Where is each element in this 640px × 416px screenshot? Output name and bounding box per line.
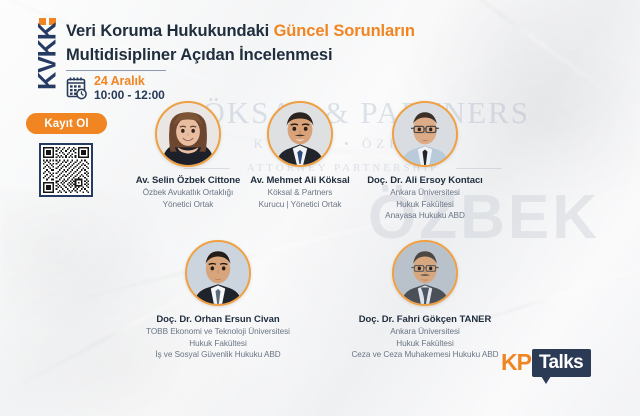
title-line-1: Veri Koruma Hukukundaki Güncel Sorunları…: [66, 19, 536, 43]
title-line-1-highlight: Güncel Sorunların: [274, 22, 415, 40]
speaker-name: Doç. Dr. Orhan Ersun Civan: [118, 313, 318, 326]
speaker-card-orhan-ersun-civan: Doç. Dr. Orhan Ersun Civan TOBB Ekonomi …: [118, 240, 318, 361]
kvkk-logo: KVKK: [33, 18, 61, 108]
speaker-card-mehmet-ali-koksal: Av. Mehmet Ali Köksal Köksal & Partners …: [236, 101, 364, 210]
page-title: Veri Koruma Hukukundaki Güncel Sorunları…: [66, 19, 536, 67]
speaker-affiliation-line: Ceza ve Ceza Muhakemesi Hukuku ABD: [330, 349, 520, 361]
calendar-clock-icon: [66, 76, 88, 100]
kp-talks-logo: KP Talks: [501, 349, 591, 377]
speaker-card-fahri-gokcen-taner: Doç. Dr. Fahri Gökçen TANER Ankara Ünive…: [330, 240, 520, 361]
avatar: [155, 101, 221, 167]
kp-talks-suffix: Talks: [539, 352, 583, 373]
speaker-affiliation-line: Hukuk Fakültesi: [350, 199, 500, 211]
speaker-name: Doç. Dr. Fahri Gökçen TANER: [330, 313, 520, 326]
event-datetime: 24 Aralık 10:00 - 12:00: [66, 70, 246, 101]
speaker-affiliation-line: Hukuk Fakültesi: [330, 338, 520, 350]
speaker-card-ali-ersoy-kontaci: Doç. Dr. Ali Ersoy Kontacı Ankara Üniver…: [350, 101, 500, 222]
kp-talks-prefix: KP: [501, 349, 531, 375]
event-poster: KÖKSAL & PARTNERS KÖKSAL • ÖZKAN ATTORNE…: [0, 0, 640, 416]
register-button[interactable]: Kayıt Ol: [26, 113, 107, 134]
speaker-affiliation-line: Ankara Üniversitesi: [350, 187, 500, 199]
speaker-affiliation-line: TOBB Ekonomi ve Teknoloji Üniversitesi: [118, 326, 318, 338]
title-line-1-plain: Veri Koruma Hukukundaki: [66, 22, 274, 40]
title-line-2: Multidisipliner Açıdan İncelenmesi: [66, 43, 536, 67]
speech-bubble-icon: Talks: [532, 349, 591, 377]
qr-code[interactable]: [39, 143, 93, 197]
divider: [66, 70, 166, 71]
speaker-name: Av. Mehmet Ali Köksal: [236, 174, 364, 187]
speaker-affiliation-line: Hukuk Fakültesi: [118, 338, 318, 350]
speaker-affiliation-line: Anayasa Hukuku ABD: [350, 210, 500, 222]
event-time: 10:00 - 12:00: [94, 89, 165, 101]
event-date: 24 Aralık: [94, 75, 165, 87]
avatar: [185, 240, 251, 306]
speaker-name: Doç. Dr. Ali Ersoy Kontacı: [350, 174, 500, 187]
speaker-affiliation-line: Ankara Üniversitesi: [330, 326, 520, 338]
avatar: [267, 101, 333, 167]
kvkk-logo-text: KVKK: [34, 18, 63, 96]
avatar: [392, 101, 458, 167]
speaker-affiliation-line: İş ve Sosyal Güvenlik Hukuku ABD: [118, 349, 318, 361]
avatar: [392, 240, 458, 306]
speaker-affiliation-line: Kurucu | Yönetici Ortak: [236, 199, 364, 211]
speaker-affiliation-line: Köksal & Partners: [236, 187, 364, 199]
